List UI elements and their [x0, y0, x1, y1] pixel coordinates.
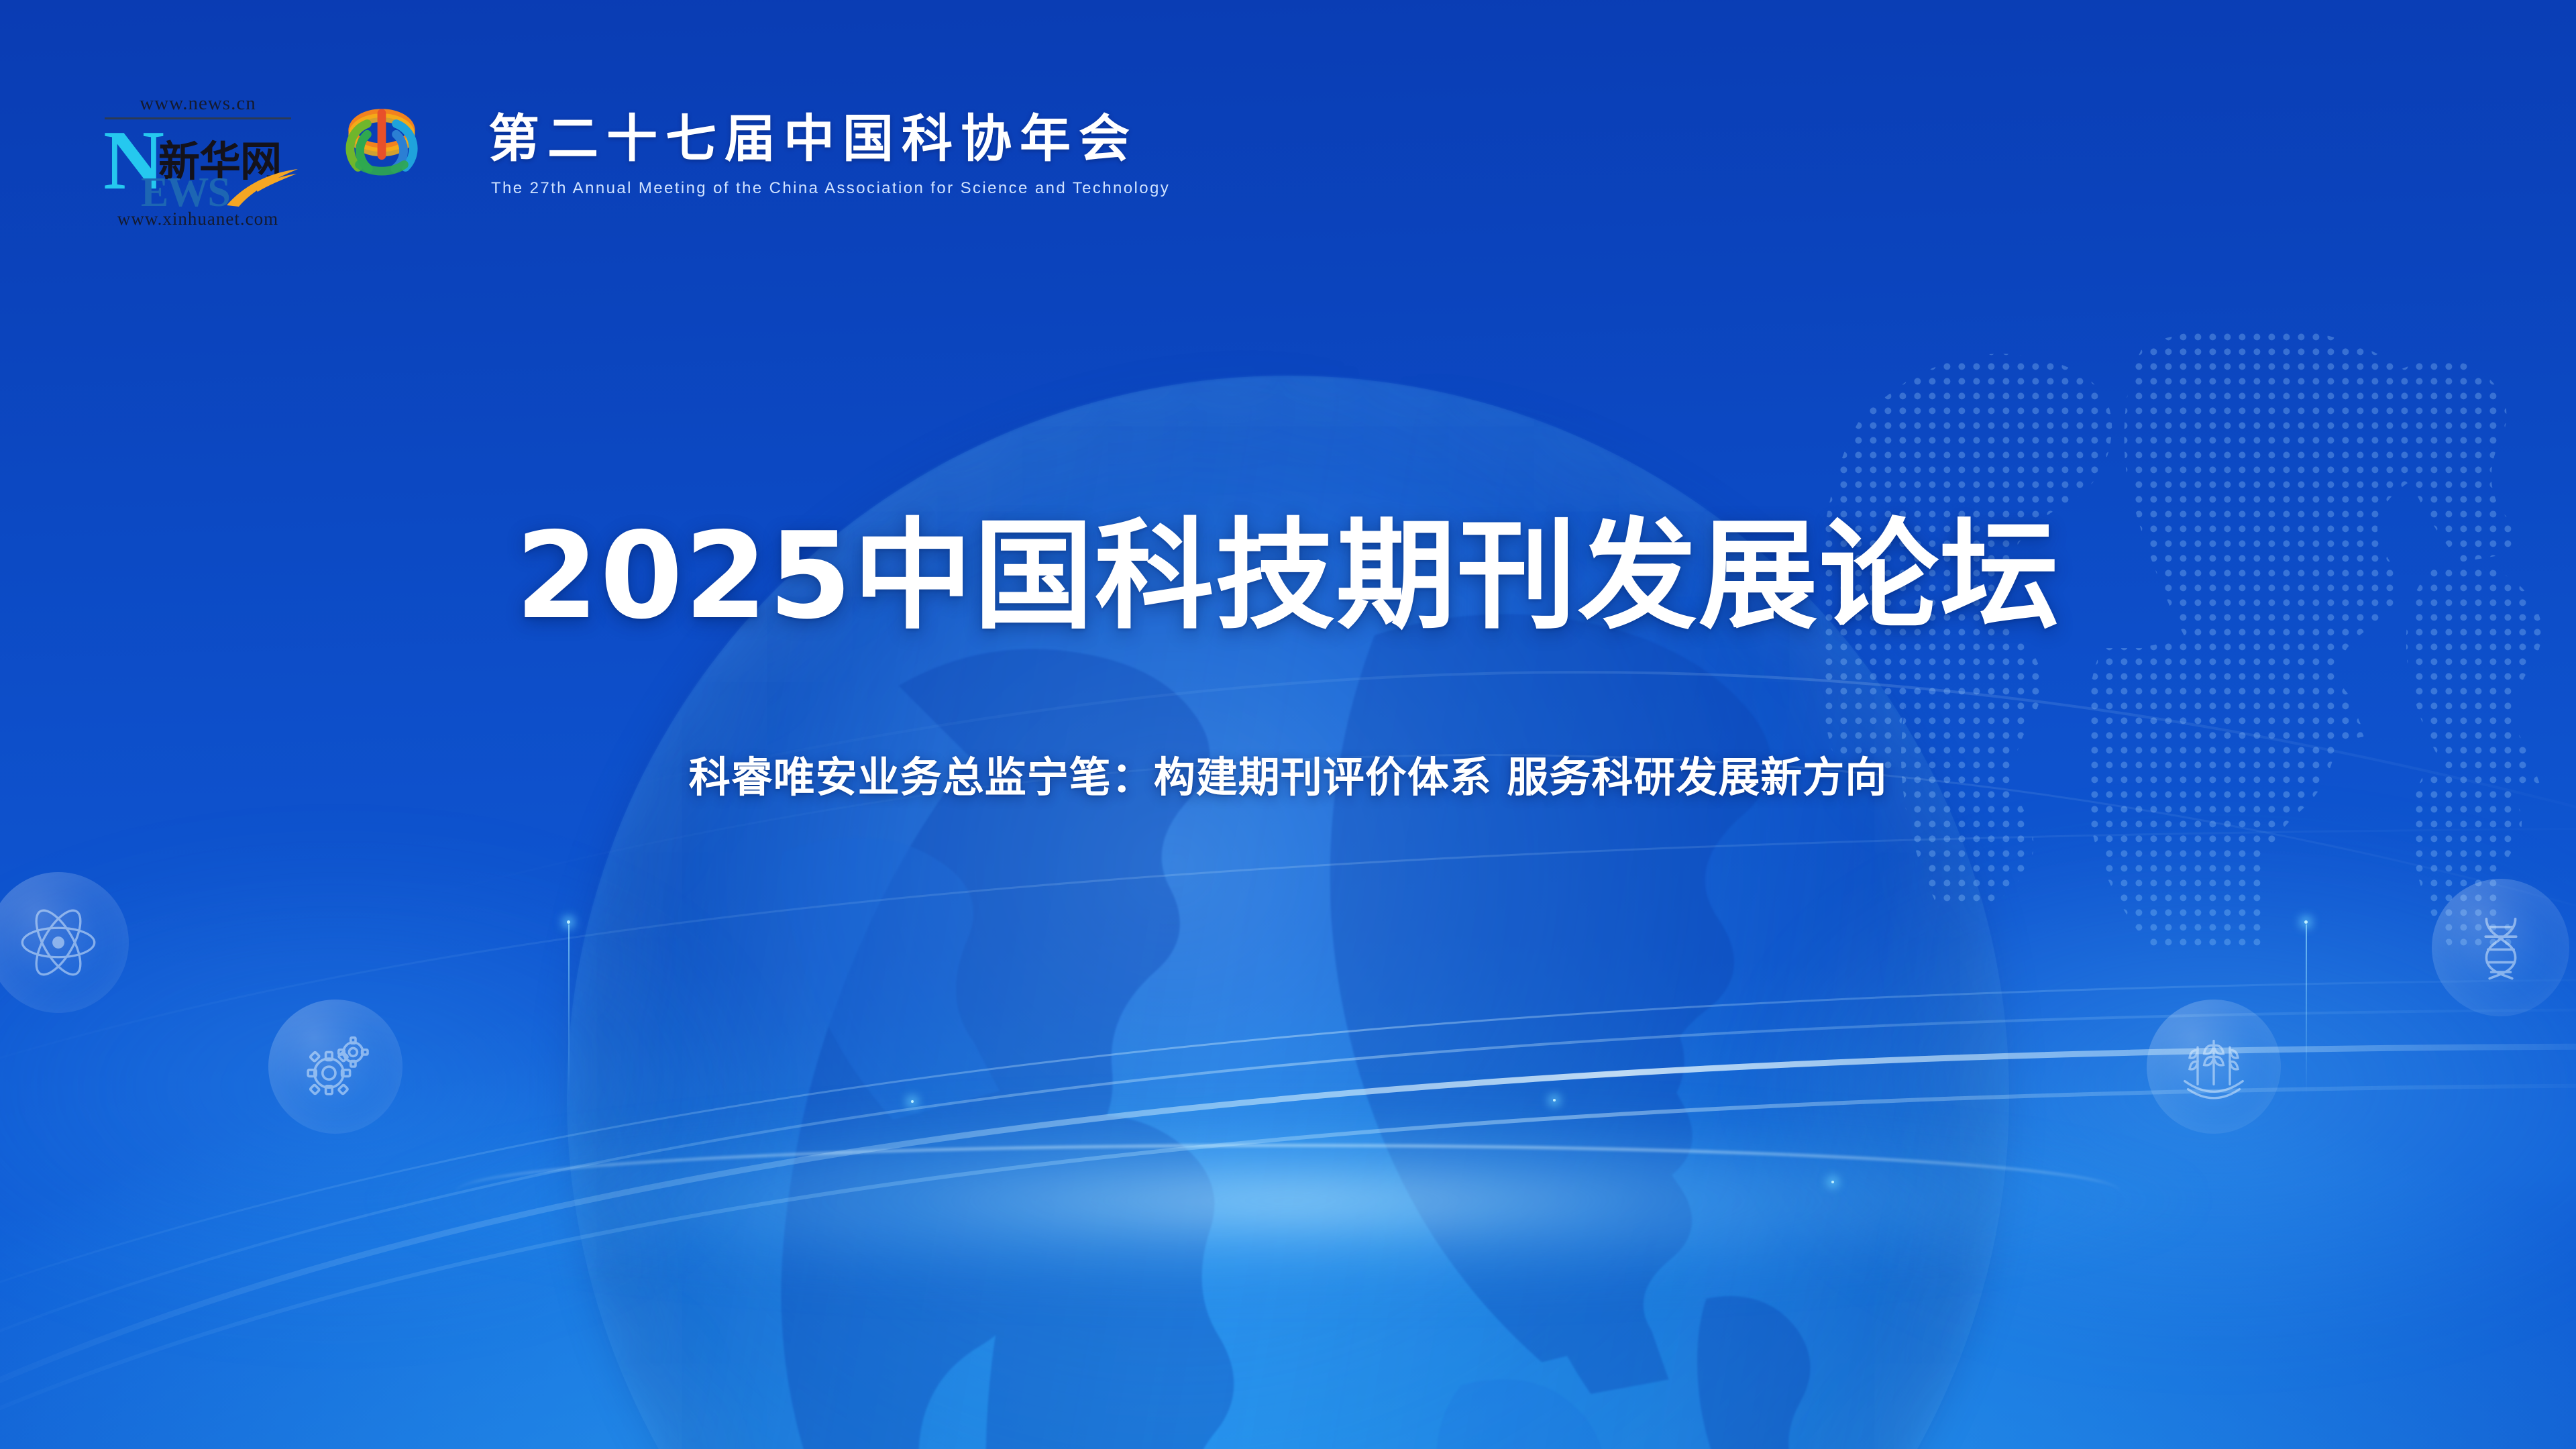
spark-point — [1553, 1099, 1556, 1102]
wheat-icon — [2173, 1026, 2254, 1107]
poster-canvas: www.news.cn N 新华网 EWS www.xinhuanet.com — [0, 0, 2576, 1449]
xinhua-top-url: www.news.cn — [99, 93, 297, 115]
poster-header: www.news.cn N 新华网 EWS www.xinhuanet.com — [0, 0, 2576, 228]
gears-icon — [295, 1026, 376, 1107]
gears-bubble — [268, 1000, 402, 1134]
forum-title: 2025中国科技期刊发展论坛 — [0, 517, 2576, 636]
spark-point — [1831, 1181, 1834, 1183]
xinhua-mark: N 新华网 EWS — [99, 125, 297, 207]
atom-icon — [15, 900, 101, 985]
xinhua-bottom-url: www.xinhuanet.com — [99, 209, 297, 229]
spark-point — [567, 920, 570, 924]
wheat-bubble — [2147, 1000, 2281, 1134]
dna-bubble — [2432, 879, 2569, 1016]
conference-title-en: The 27th Annual Meeting of the China Ass… — [491, 179, 1170, 198]
spark-point — [911, 1100, 914, 1103]
dna-icon — [2461, 908, 2541, 988]
conference-title-cn: 第二十七届中国科协年会 — [488, 97, 1138, 171]
spark-line — [2306, 924, 2307, 1095]
horizon-line — [456, 1144, 2120, 1238]
spark-line — [568, 924, 570, 1092]
spark-point — [2304, 920, 2308, 924]
cast-emblem-icon — [342, 104, 421, 183]
xinhuanet-logo[interactable]: www.news.cn N 新华网 EWS www.xinhuanet.com — [99, 93, 297, 227]
forum-subtitle: 科睿唯安业务总监宁笔：构建期刊评价体系 服务科研发展新方向 — [0, 757, 2576, 798]
xinhua-swoosh-icon — [225, 168, 301, 207]
